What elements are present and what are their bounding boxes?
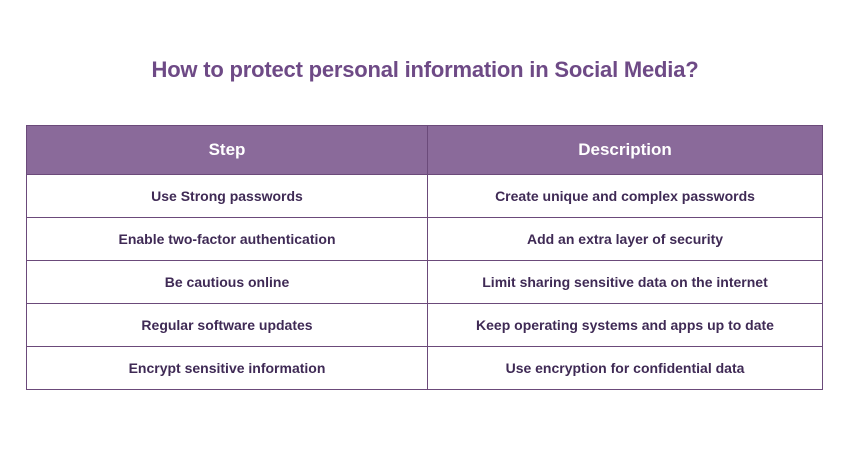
- cell-step: Encrypt sensitive information: [27, 347, 428, 390]
- cell-step: Enable two-factor authentication: [27, 218, 428, 261]
- table-body: Use Strong passwords Create unique and c…: [27, 175, 823, 390]
- protection-steps-table: Step Description Use Strong passwords Cr…: [26, 125, 823, 390]
- column-header-description: Description: [428, 126, 823, 175]
- table-row: Enable two-factor authentication Add an …: [27, 218, 823, 261]
- page-title: How to protect personal information in S…: [0, 56, 850, 84]
- cell-description: Keep operating systems and apps up to da…: [428, 304, 823, 347]
- cell-step: Be cautious online: [27, 261, 428, 304]
- page-root: How to protect personal information in S…: [0, 0, 850, 450]
- cell-step: Use Strong passwords: [27, 175, 428, 218]
- cell-description: Limit sharing sensitive data on the inte…: [428, 261, 823, 304]
- cell-description: Add an extra layer of security: [428, 218, 823, 261]
- table-header: Step Description: [27, 126, 823, 175]
- cell-description: Create unique and complex passwords: [428, 175, 823, 218]
- table-row: Encrypt sensitive information Use encryp…: [27, 347, 823, 390]
- table-row: Be cautious online Limit sharing sensiti…: [27, 261, 823, 304]
- column-header-step: Step: [27, 126, 428, 175]
- table-header-row: Step Description: [27, 126, 823, 175]
- table-container: Step Description Use Strong passwords Cr…: [26, 125, 822, 390]
- cell-step: Regular software updates: [27, 304, 428, 347]
- table-row: Use Strong passwords Create unique and c…: [27, 175, 823, 218]
- cell-description: Use encryption for confidential data: [428, 347, 823, 390]
- table-row: Regular software updates Keep operating …: [27, 304, 823, 347]
